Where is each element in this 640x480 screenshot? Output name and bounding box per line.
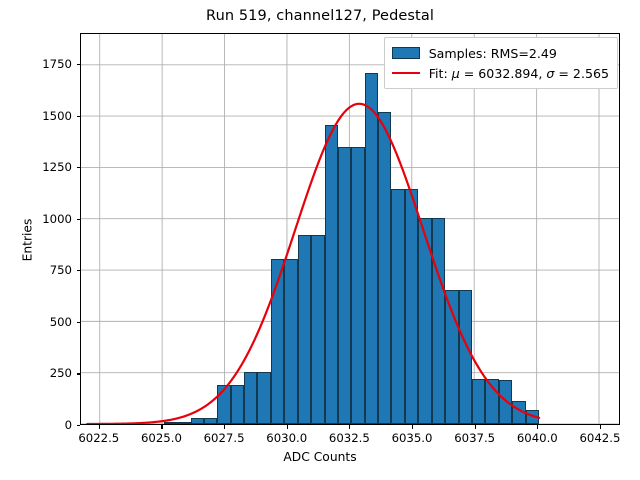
x-tick-mark — [600, 425, 601, 429]
chart-legend: Samples: RMS=2.49 Fit: μ = 6032.894, σ =… — [384, 37, 618, 89]
legend-fit-mu-value: = 6032.894, — [460, 66, 547, 81]
legend-fit-sigma-value: = 2.565 — [554, 66, 609, 81]
figure-canvas: Run 519, channel127, Pedestal Entries AD… — [0, 0, 640, 480]
x-tick-label: 6037.5 — [454, 431, 495, 445]
y-tick-label: 1000 — [4, 212, 72, 226]
legend-patch-swatch-icon — [392, 47, 420, 59]
chart-title: Run 519, channel127, Pedestal — [0, 8, 640, 24]
legend-label-samples: Samples: RMS=2.49 — [429, 46, 557, 61]
legend-line-swatch-icon — [392, 72, 420, 74]
x-tick-label: 6040.0 — [517, 431, 558, 445]
x-tick-mark — [287, 425, 288, 429]
y-tick-mark — [77, 425, 81, 426]
x-tick-mark — [224, 425, 225, 429]
legend-fit-prefix: Fit: — [429, 66, 448, 81]
x-tick-label: 6035.0 — [392, 431, 433, 445]
y-tick-label: 1250 — [4, 160, 72, 174]
legend-label-fit: Fit: μ = 6032.894, σ = 2.565 — [429, 66, 609, 81]
y-tick-label: 750 — [4, 263, 72, 277]
legend-fit-mu-symbol: μ — [452, 66, 460, 81]
x-axis-label: ADC Counts — [0, 450, 640, 464]
x-tick-label: 6025.0 — [141, 431, 182, 445]
y-tick-label: 1500 — [4, 109, 72, 123]
x-tick-mark — [349, 425, 350, 429]
y-tick-label: 500 — [4, 315, 72, 329]
x-tick-label: 6022.5 — [78, 431, 119, 445]
x-tick-mark — [161, 425, 162, 429]
legend-entry-fit: Fit: μ = 6032.894, σ = 2.565 — [392, 63, 609, 83]
x-tick-label: 6032.5 — [329, 431, 370, 445]
x-tick-mark — [537, 425, 538, 429]
x-tick-mark — [475, 425, 476, 429]
y-tick-label: 250 — [4, 366, 72, 380]
y-tick-label: 0 — [4, 418, 72, 432]
legend-entry-samples: Samples: RMS=2.49 — [392, 43, 609, 63]
x-tick-label: 6027.5 — [204, 431, 245, 445]
x-tick-label: 6030.0 — [266, 431, 307, 445]
x-tick-mark — [412, 425, 413, 429]
gaussian-fit-curve — [81, 34, 619, 424]
plot-area — [80, 33, 620, 425]
x-tick-label: 6042.5 — [580, 431, 621, 445]
x-tick-mark — [99, 425, 100, 429]
y-tick-label: 1750 — [4, 57, 72, 71]
